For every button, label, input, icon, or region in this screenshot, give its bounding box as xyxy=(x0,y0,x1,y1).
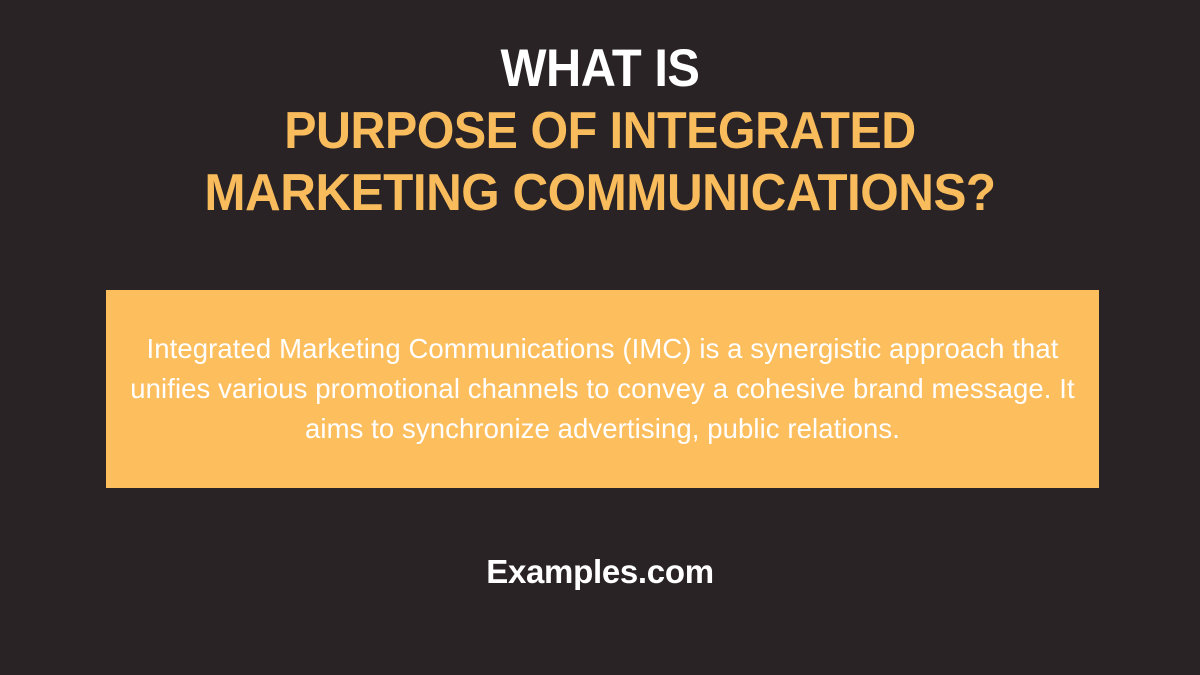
definition-text: Integrated Marketing Communications (IMC… xyxy=(106,329,1099,449)
heading-line-purpose-of-integrated: PURPOSE OF INTEGRATED xyxy=(42,100,1158,162)
brand-watermark: Examples.com xyxy=(0,552,1200,592)
definition-card: Integrated Marketing Communications (IMC… xyxy=(106,290,1099,488)
page-title: WHAT IS PURPOSE OF INTEGRATED MARKETING … xyxy=(0,38,1200,224)
heading-line-marketing-communications: MARKETING COMMUNICATIONS? xyxy=(30,162,1170,224)
slide-canvas: WHAT IS PURPOSE OF INTEGRATED MARKETING … xyxy=(0,0,1200,675)
heading-line-what-is: WHAT IS xyxy=(48,38,1152,100)
